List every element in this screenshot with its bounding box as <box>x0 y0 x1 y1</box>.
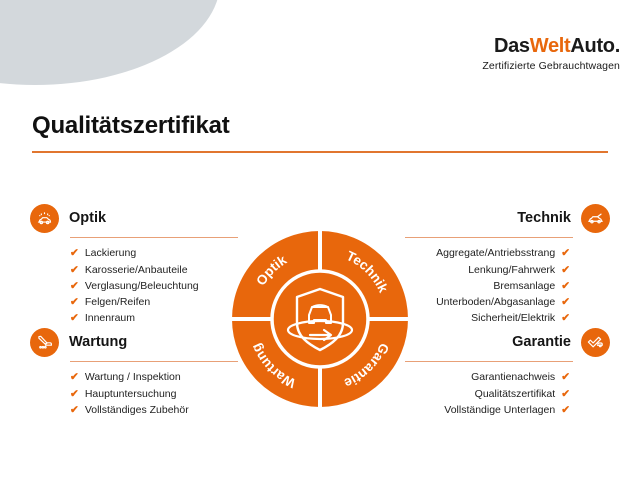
logo-text-welt: Welt <box>530 35 571 57</box>
list-item: ✔Garantienachweis <box>405 369 570 385</box>
section-wartung-title: Wartung <box>69 334 127 350</box>
quality-wheel-svg: Optik Technik Wartung Garantie <box>232 231 408 407</box>
section-garantie-header: Garantie <box>405 330 610 354</box>
check-icon: ✔ <box>70 310 79 326</box>
list-item: ✔Qualitätszertifikat <box>405 386 570 402</box>
list-item-label: Innenraum <box>85 310 135 326</box>
logo-text-das: Das <box>494 35 530 57</box>
list-item-label: Qualitätszertifikat <box>475 386 556 402</box>
list-item: ✔Innenraum <box>70 310 235 326</box>
check-icon: ✔ <box>70 294 79 310</box>
check-icon: ✔ <box>561 245 570 261</box>
list-item: ✔Lenkung/Fahrwerk <box>405 262 570 278</box>
list-item-label: Vollständiges Zubehör <box>85 402 189 418</box>
section-wartung: Wartung ✔Wartung / Inspektion ✔Hauptunte… <box>30 330 235 418</box>
page-title: Qualitätszertifikat <box>32 112 230 140</box>
list-item: ✔Aggregate/Antriebsstrang <box>405 245 570 261</box>
section-garantie-divider <box>405 361 573 362</box>
brand-logo-wordmark: DasWeltAuto. <box>482 36 620 57</box>
car-wrench-icon <box>30 328 59 357</box>
check-icon: ✔ <box>561 402 570 418</box>
list-item: ✔Hauptuntersuchung <box>70 386 235 402</box>
check-icon: ✔ <box>70 278 79 294</box>
list-item: ✔Verglasung/Beleuchtung <box>70 278 235 294</box>
section-wartung-list: ✔Wartung / Inspektion ✔Hauptuntersuchung… <box>70 369 235 418</box>
section-optik-divider <box>70 237 238 238</box>
list-item-label: Vollständige Unterlagen <box>444 402 555 418</box>
section-technik: Technik ✔Aggregate/Antriebsstrang ✔Lenku… <box>405 206 610 326</box>
list-item-label: Unterboden/Abgasanlage <box>436 294 555 310</box>
section-optik-header: Optik <box>30 206 235 230</box>
car-check-icon <box>581 328 610 357</box>
car-wash-icon <box>30 204 59 233</box>
quality-wheel-diagram: Optik Technik Wartung Garantie <box>232 231 408 407</box>
list-item: ✔Unterboden/Abgasanlage <box>405 294 570 310</box>
list-item-label: Wartung / Inspektion <box>85 369 181 385</box>
logo-text-auto: Auto. <box>570 35 620 57</box>
list-item: ✔Felgen/Reifen <box>70 294 235 310</box>
list-item-label: Karosserie/Anbauteile <box>85 262 188 278</box>
check-icon: ✔ <box>561 262 570 278</box>
section-optik-title: Optik <box>69 210 106 226</box>
section-wartung-header: Wartung <box>30 330 235 354</box>
list-item-label: Verglasung/Beleuchtung <box>85 278 199 294</box>
section-technik-title: Technik <box>517 210 571 226</box>
brand-logo: DasWeltAuto. Zertifizierte Gebrauchtwage… <box>482 36 620 72</box>
list-item-label: Hauptuntersuchung <box>85 386 177 402</box>
list-item-label: Lenkung/Fahrwerk <box>468 262 555 278</box>
check-icon: ✔ <box>70 262 79 278</box>
list-item: ✔Wartung / Inspektion <box>70 369 235 385</box>
check-icon: ✔ <box>70 245 79 261</box>
check-icon: ✔ <box>70 386 79 402</box>
list-item-label: Bremsanlage <box>493 278 555 294</box>
list-item-label: Sicherheit/Elektrik <box>471 310 555 326</box>
car-tech-icon <box>581 204 610 233</box>
section-garantie: Garantie ✔Garantienachweis ✔Qualitätszer… <box>405 330 610 418</box>
list-item: ✔Lackierung <box>70 245 235 261</box>
section-optik: Optik ✔Lackierung ✔Karosserie/Anbauteile… <box>30 206 235 326</box>
list-item-label: Aggregate/Antriebsstrang <box>436 245 555 261</box>
section-optik-list: ✔Lackierung ✔Karosserie/Anbauteile ✔Verg… <box>70 245 235 326</box>
check-icon: ✔ <box>70 369 79 385</box>
list-item-label: Felgen/Reifen <box>85 294 150 310</box>
section-wartung-divider <box>70 361 238 362</box>
check-icon: ✔ <box>561 310 570 326</box>
check-icon: ✔ <box>561 294 570 310</box>
check-icon: ✔ <box>70 402 79 418</box>
section-technik-header: Technik <box>405 206 610 230</box>
section-garantie-list: ✔Garantienachweis ✔Qualitätszertifikat ✔… <box>405 369 570 418</box>
list-item: ✔Vollständiges Zubehör <box>70 402 235 418</box>
check-icon: ✔ <box>561 369 570 385</box>
list-item: ✔Karosserie/Anbauteile <box>70 262 235 278</box>
list-item: ✔Vollständige Unterlagen <box>405 402 570 418</box>
section-garantie-title: Garantie <box>512 334 571 350</box>
section-technik-divider <box>405 237 573 238</box>
brand-tagline: Zertifizierte Gebrauchtwagen <box>482 60 620 72</box>
decorative-gray-ellipse <box>0 0 220 85</box>
qualitaetszertifikat-page: DasWeltAuto. Zertifizierte Gebrauchtwage… <box>0 0 640 480</box>
list-item: ✔Sicherheit/Elektrik <box>405 310 570 326</box>
check-icon: ✔ <box>561 278 570 294</box>
section-technik-list: ✔Aggregate/Antriebsstrang ✔Lenkung/Fahrw… <box>405 245 570 326</box>
check-icon: ✔ <box>561 386 570 402</box>
title-divider <box>32 151 608 153</box>
list-item-label: Garantienachweis <box>471 369 555 385</box>
list-item-label: Lackierung <box>85 245 136 261</box>
list-item: ✔Bremsanlage <box>405 278 570 294</box>
